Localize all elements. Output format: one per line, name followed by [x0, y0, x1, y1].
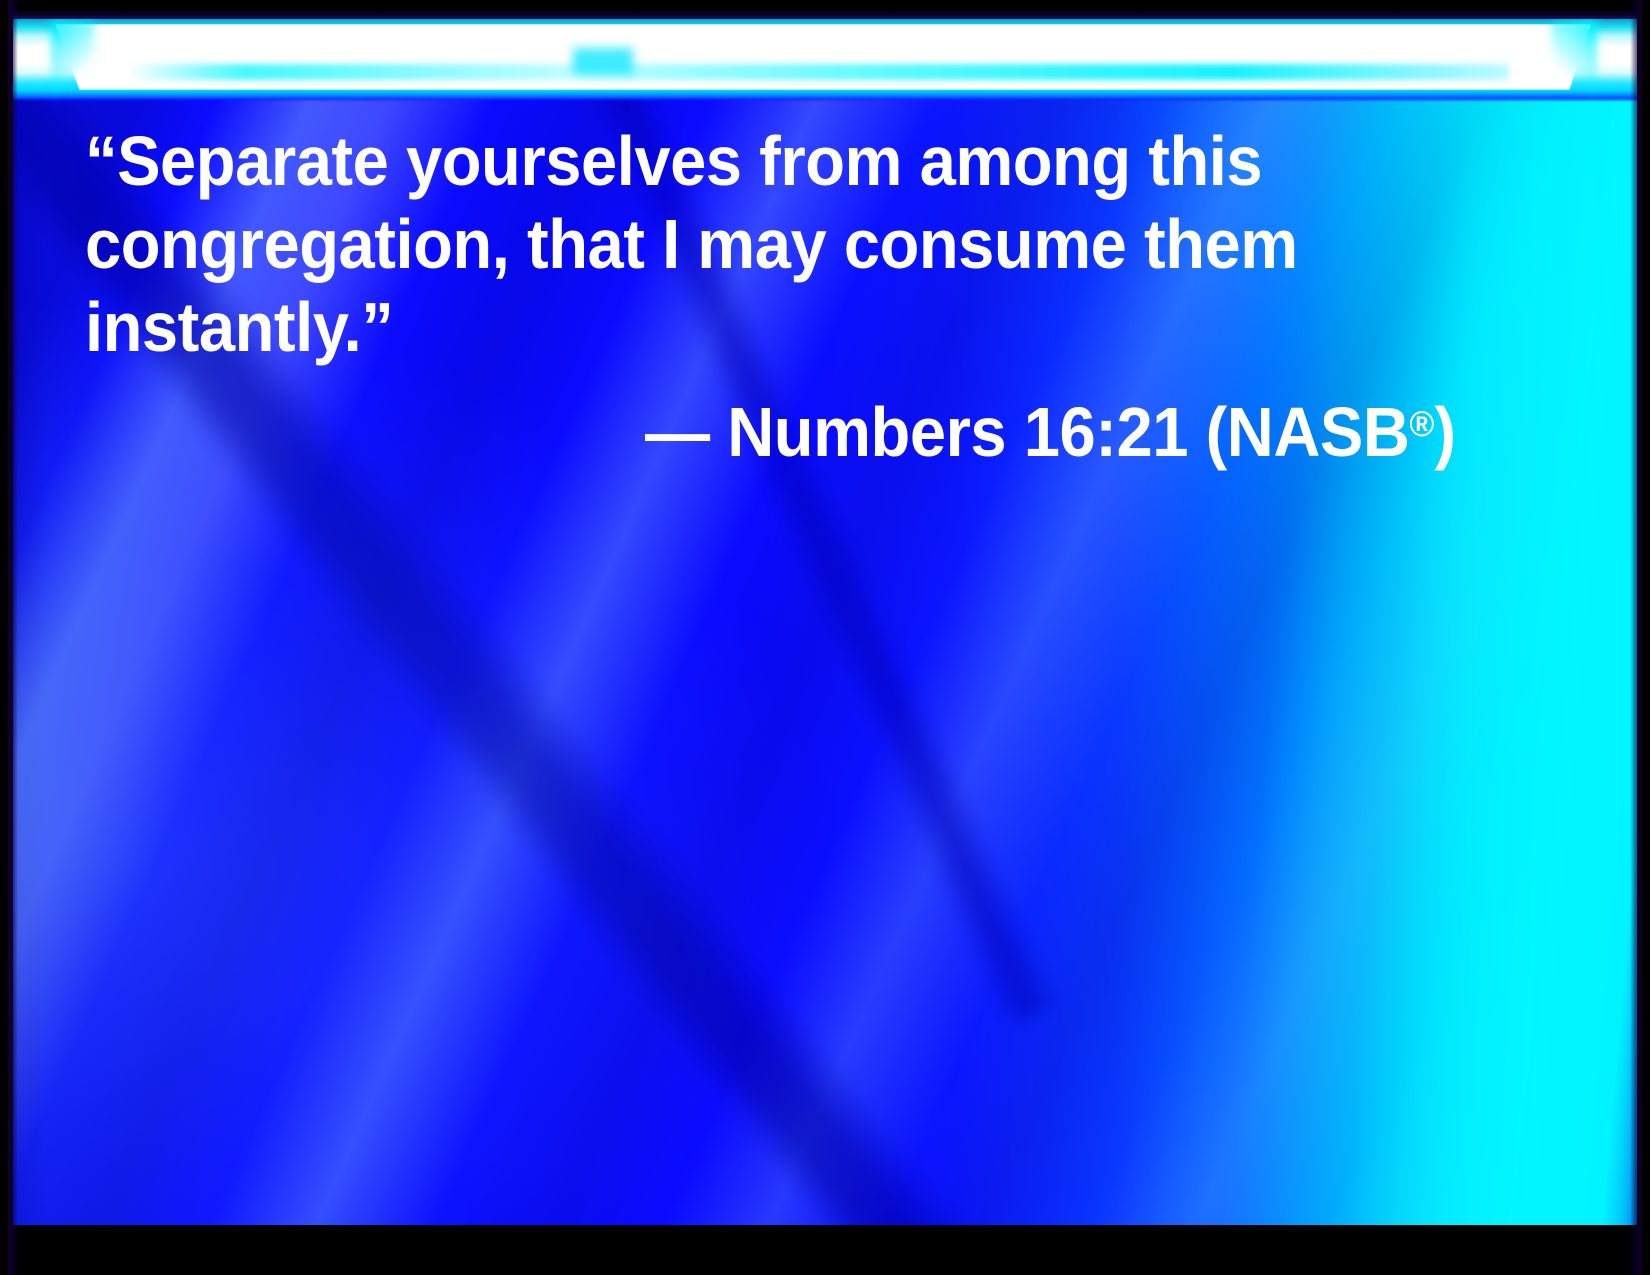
text-layer: “Separate yourselves from among this con…	[13, 10, 1637, 1225]
registered-trademark-icon: ®	[1409, 403, 1434, 444]
scripture-quote: “Separate yourselves from among this con…	[85, 120, 1445, 369]
quote-line-3: instantly.”	[85, 286, 1350, 369]
slide-background: “Separate yourselves from among this con…	[13, 10, 1637, 1225]
frame-inner-shadow-right	[1630, 0, 1642, 1275]
frame-border-bottom	[0, 1225, 1650, 1275]
scripture-attribution: — Numbers 16:21 (NASB®)	[645, 382, 1456, 474]
quote-line-1: “Separate yourselves from among this	[85, 120, 1350, 203]
attribution-prefix: — Numbers 16:21 (NASB	[645, 393, 1409, 471]
frame-border-top	[0, 0, 1650, 10]
frame-inner-shadow-left	[8, 0, 18, 1275]
quote-line-2: congregation, that I may consume them	[85, 203, 1350, 286]
attribution-suffix: )	[1434, 393, 1455, 471]
slide-canvas: “Separate yourselves from among this con…	[0, 0, 1650, 1275]
